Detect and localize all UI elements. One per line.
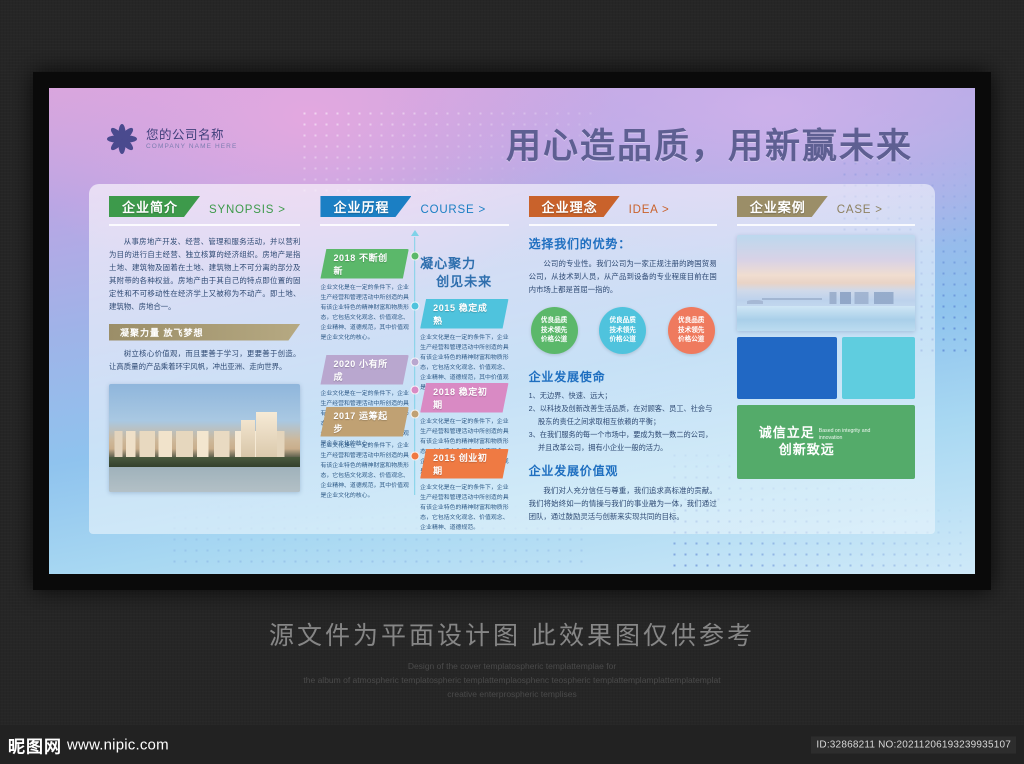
footer-bar: 昵图网 www.nipic.com ID:32868211 NO:2021120… — [0, 725, 1024, 764]
panel-course: 企业历程 COURSE > 凝心聚力 创见未来 2018 不断创新企业文化是在一… — [310, 196, 518, 524]
mission-item: 3、在我们服务的每一个市场中，要成为数一数二的公司，并且改革公司，拥有小企业一般… — [529, 429, 717, 455]
timeline-arrow-icon — [411, 230, 419, 236]
advantage-circle: 优良品质技术领先价格公道 — [599, 307, 646, 354]
advantage-circle-line: 优良品质 — [541, 316, 567, 326]
caption-en-line1: Design of the cover templatospheric temp… — [0, 659, 1024, 673]
case-slogan-en: Based on integrity and innovation — [819, 425, 877, 442]
divider — [529, 224, 717, 226]
timeline-item-text: 企业文化是在一定的条件下，企业生产经营和管理活动中所创造的具有该企业特色的精神财… — [320, 441, 408, 502]
idea-mission-list: 1、无边界、快速、远大；2、以科技及创新改善生活品质，在对顾客、员工、社会与股东… — [529, 390, 717, 455]
case-slogan-box: 诚信立足 Based on integrity and innovation 创… — [737, 405, 915, 479]
timeline-item-text: 企业文化是在一定的条件下，企业生产经营和管理活动中所创造的具有该企业特色的精神财… — [420, 483, 508, 534]
course-slogan-line2: 创见未来 — [420, 273, 492, 292]
course-en: COURSE > — [420, 204, 486, 217]
timeline-year-label: 2017 运筹起步 — [320, 407, 408, 437]
case-en: CASE > — [837, 204, 883, 217]
synopsis-subbanner: 凝聚力量 放飞梦想 — [109, 324, 300, 341]
advantage-circle-line: 优良品质 — [609, 316, 635, 326]
idea-circle-group: 优良品质技术领先价格公道优良品质技术领先价格公道优良品质技术领先价格公道 — [531, 307, 715, 354]
flower-logo-icon — [107, 124, 137, 154]
case-color-blocks — [737, 337, 915, 399]
synopsis-en: SYNOPSIS > — [209, 204, 286, 217]
divider — [737, 224, 915, 226]
timeline-node — [410, 385, 419, 394]
synopsis-body: 从事房地产开发、经营、管理和服务活动，并以营利为目的进行自主经营、独立核算的经济… — [109, 235, 300, 314]
caption-en-line2: the album of atmospheric templatospheric… — [0, 673, 1024, 687]
advantage-circle: 优良品质技术领先价格公道 — [531, 307, 578, 354]
advantage-circle-line: 技术领先 — [678, 326, 704, 336]
idea-values-body: 我们对人充分信任与尊重，我们追求高标准的贡献。我们将始终如一的情操与我们的事业融… — [529, 484, 717, 524]
advantage-circle-line: 优良品质 — [678, 316, 704, 326]
timeline-year-label: 2018 不断创新 — [320, 249, 408, 279]
timeline-item: 2018 不断创新企业文化是在一定的条件下，企业生产经营和管理活动中所创造的具有… — [320, 249, 408, 344]
case-header: 企业案例 CASE > — [737, 196, 915, 217]
caption-cn: 源文件为平面设计图 此效果图仅供参考 — [0, 616, 1024, 652]
timeline-item: 2015 创业初期企业文化是在一定的条件下，企业生产经营和管理活动中所创造的具有… — [420, 449, 508, 534]
timeline-item-text: 企业文化是在一定的条件下，企业生产经营和管理活动中所创造的具有该企业特色的精神财… — [320, 283, 408, 344]
case-block-primary — [737, 337, 837, 399]
idea-heading-advantage: 选择我们的优势： — [529, 235, 717, 252]
company-name-en: COMPANY NAME HERE — [146, 143, 237, 150]
caption-en-line3: creative enterprospheric templises — [0, 687, 1024, 701]
timeline-node — [410, 409, 419, 418]
timeline-year-label: 2015 稳定成熟 — [420, 299, 508, 329]
panel-synopsis: 企业简介 SYNOPSIS > 从事房地产开发、经营、管理和服务活动，并以营利为… — [99, 196, 310, 524]
poster-canvas: 您的公司名称 COMPANY NAME HERE 用心造品质，用新赢未来 企业简… — [49, 88, 975, 574]
timeline-node — [410, 357, 419, 366]
site-name-cn: 昵图网 — [8, 732, 62, 757]
timeline-year-label: 2020 小有所成 — [320, 355, 408, 385]
poster-frame: 您的公司名称 COMPANY NAME HERE 用心造品质，用新赢未来 企业简… — [33, 72, 991, 590]
synopsis-photo — [109, 384, 300, 492]
mission-item: 2、以科技及创新改善生活品质，在对顾客、员工、社会与股东的责任之间求取相互依赖的… — [529, 403, 717, 429]
advantage-circle-line: 价格公道 — [678, 335, 704, 345]
timeline-node — [410, 251, 419, 260]
divider — [109, 224, 300, 226]
idea-en: IDEA > — [629, 204, 670, 217]
idea-advantage-body: 公司的专业性。我们公司为一家正规注册的跨国贸易公司，从技术到人员，从产品到设备的… — [529, 257, 717, 297]
company-name-cn: 您的公司名称 — [146, 128, 237, 144]
site-branding[interactable]: 昵图网 www.nipic.com — [8, 732, 169, 757]
divider — [320, 224, 508, 226]
synopsis-subbanner-label: 凝聚力量 放飞梦想 — [120, 326, 204, 339]
timeline-item: 2017 运筹起步企业文化是在一定的条件下，企业生产经营和管理活动中所创造的具有… — [320, 407, 408, 502]
advantage-circle-line: 价格公道 — [609, 335, 635, 345]
timeline-item: 2015 稳定成熟企业文化是在一定的条件下，企业生产经营和管理活动中所创造的具有… — [420, 299, 508, 394]
timeline-year-label: 2015 创业初期 — [420, 449, 508, 479]
company-brand: 您的公司名称 COMPANY NAME HERE — [107, 124, 237, 154]
synopsis-sub-body: 树立核心价值观，而且要善于学习，更要善于创造。让高质量的产品乘着环宇风帆，冲出亚… — [109, 347, 300, 373]
caption-en: Design of the cover templatospheric temp… — [0, 659, 1024, 701]
case-slogan-line1: 诚信立足 — [759, 425, 815, 441]
timeline: 凝心聚力 创见未来 2018 不断创新企业文化是在一定的条件下，企业生产经营和管… — [320, 235, 508, 485]
idea-heading-mission: 企业发展使命 — [529, 368, 717, 385]
advantage-circle: 优良品质技术领先价格公道 — [668, 307, 715, 354]
mission-item: 1、无边界、快速、远大； — [529, 390, 717, 403]
advantage-circle-line: 技术领先 — [609, 326, 635, 336]
case-photo — [737, 235, 915, 331]
panel-idea: 企业理念 IDEA > 选择我们的优势： 公司的专业性。我们公司为一家正规注册的… — [519, 196, 727, 524]
timeline-node — [410, 301, 419, 310]
idea-header: 企业理念 IDEA > — [529, 196, 717, 217]
course-tag: 企业历程 — [320, 196, 411, 217]
synopsis-tag: 企业简介 — [109, 196, 200, 217]
course-header: 企业历程 COURSE > — [320, 196, 508, 217]
content-card: 企业简介 SYNOPSIS > 从事房地产开发、经营、管理和服务活动，并以营利为… — [89, 184, 935, 534]
advantage-circle-line: 技术领先 — [541, 326, 567, 336]
timeline-year-label: 2018 稳定初期 — [420, 383, 508, 413]
panel-case: 企业案例 CASE > 诚信立足 Based on integrity and … — [727, 196, 925, 524]
asset-id-badge: ID:32868211 NO:20211206193239935107 — [811, 736, 1016, 753]
advantage-circle-line: 价格公道 — [541, 335, 567, 345]
case-tag: 企业案例 — [737, 196, 828, 217]
site-url[interactable]: www.nipic.com — [67, 736, 169, 753]
course-slogan: 凝心聚力 创见未来 — [420, 255, 492, 293]
course-slogan-line1: 凝心聚力 — [420, 255, 492, 274]
case-slogan-line2: 创新致远 — [759, 442, 915, 458]
case-block-secondary — [842, 337, 915, 399]
timeline-node — [410, 451, 419, 460]
caption-block: 源文件为平面设计图 此效果图仅供参考 Design of the cover t… — [0, 616, 1024, 701]
idea-heading-values: 企业发展价值观 — [529, 462, 717, 479]
page-title: 用心造品质，用新赢未来 — [506, 118, 913, 169]
synopsis-header: 企业简介 SYNOPSIS > — [109, 196, 300, 217]
idea-tag: 企业理念 — [529, 196, 620, 217]
